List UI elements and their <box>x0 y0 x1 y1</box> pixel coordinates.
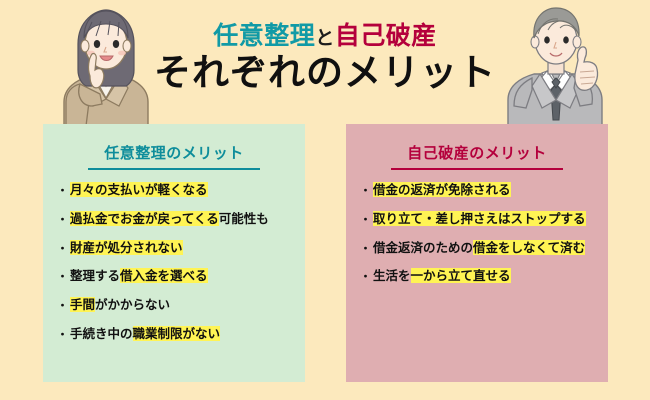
item-text-highlight: 手間 <box>70 297 95 312</box>
list-item: ・借金返済のための借金をしなくて済む <box>360 240 602 256</box>
item-text-highlight: 職業制限がない <box>133 326 221 341</box>
left-panel-heading-underline <box>88 168 260 170</box>
list-item: ・取り立て・差し押さえはストップする <box>360 211 602 227</box>
list-item: ・月々の支払いが軽くなる <box>57 182 299 198</box>
bullet-icon: ・ <box>57 328 68 341</box>
item-text-highlight: 月々の支払いが軽くなる <box>70 182 208 197</box>
bullet-icon: ・ <box>360 213 371 226</box>
title-term-nini-seiri: 任意整理 <box>213 21 315 50</box>
item-text-plain-after: がかからない <box>95 297 170 312</box>
panel-jiko-hasan-merits: 自己破産のメリット ・借金の返済が免除される ・取り立て・差し押さえはストップす… <box>346 124 608 382</box>
right-panel-heading: 自己破産のメリット <box>346 124 608 163</box>
woman-pointing-up-illustration <box>46 2 166 126</box>
list-item: ・生活を一から立て直せる <box>360 268 602 284</box>
item-text-highlight: 一から立て直せる <box>411 268 511 283</box>
item-text-highlight: 借金の返済が免除される <box>373 182 511 197</box>
list-item: ・手間がかからない <box>57 297 299 313</box>
left-panel-list: ・月々の支払いが軽くなる ・過払金でお金が戻ってくる可能性も ・財産が処分されな… <box>43 182 305 342</box>
bullet-icon: ・ <box>57 213 68 226</box>
bullet-icon: ・ <box>360 270 371 283</box>
title-conjunction: と <box>315 27 335 49</box>
item-text-highlight: 借入金を選べる <box>120 268 208 283</box>
item-text-plain-before: 借金返済のための <box>373 240 473 255</box>
bullet-icon: ・ <box>360 184 371 197</box>
list-item: ・財産が処分されない <box>57 240 299 256</box>
list-item: ・過払金でお金が戻ってくる可能性も <box>57 211 299 227</box>
list-item: ・手続き中の職業制限がない <box>57 326 299 342</box>
bullet-icon: ・ <box>57 184 68 197</box>
item-text-plain-before: 整理する <box>70 268 120 283</box>
item-text-plain-before: 手続き中の <box>70 326 133 341</box>
page-title: 任意整理と自己破産 それぞれのメリット <box>120 22 530 93</box>
title-line-2: それぞれのメリット <box>120 52 530 93</box>
item-text-plain-before: 生活を <box>373 268 411 283</box>
item-text-highlight: 借金をしなくて済む <box>473 240 585 255</box>
item-text-highlight: 過払金でお金が戻ってくる <box>70 211 219 226</box>
bullet-icon: ・ <box>360 242 371 255</box>
title-line-1: 任意整理と自己破産 <box>120 22 530 51</box>
item-text-highlight: 取り立て・差し押さえはストップする <box>373 211 586 226</box>
bullet-icon: ・ <box>57 299 68 312</box>
title-term-jiko-hasan: 自己破産 <box>335 21 437 50</box>
list-item: ・借金の返済が免除される <box>360 182 602 198</box>
item-text-highlight: 財産が処分されない <box>70 240 183 255</box>
bullet-icon: ・ <box>57 242 68 255</box>
bullet-icon: ・ <box>57 270 68 283</box>
right-panel-heading-underline <box>391 168 563 170</box>
man-thumbs-up-illustration <box>492 0 620 126</box>
list-item: ・整理する借入金を選べる <box>57 268 299 284</box>
infographic-canvas: 任意整理と自己破産 それぞれのメリット <box>0 0 650 400</box>
left-panel-heading: 任意整理のメリット <box>43 124 305 163</box>
right-panel-list: ・借金の返済が免除される ・取り立て・差し押さえはストップする ・借金返済のため… <box>346 182 608 284</box>
item-text-plain-after: 可能性も <box>219 211 269 226</box>
panel-nini-seiri-merits: 任意整理のメリット ・月々の支払いが軽くなる ・過払金でお金が戻ってくる可能性も… <box>43 124 305 382</box>
